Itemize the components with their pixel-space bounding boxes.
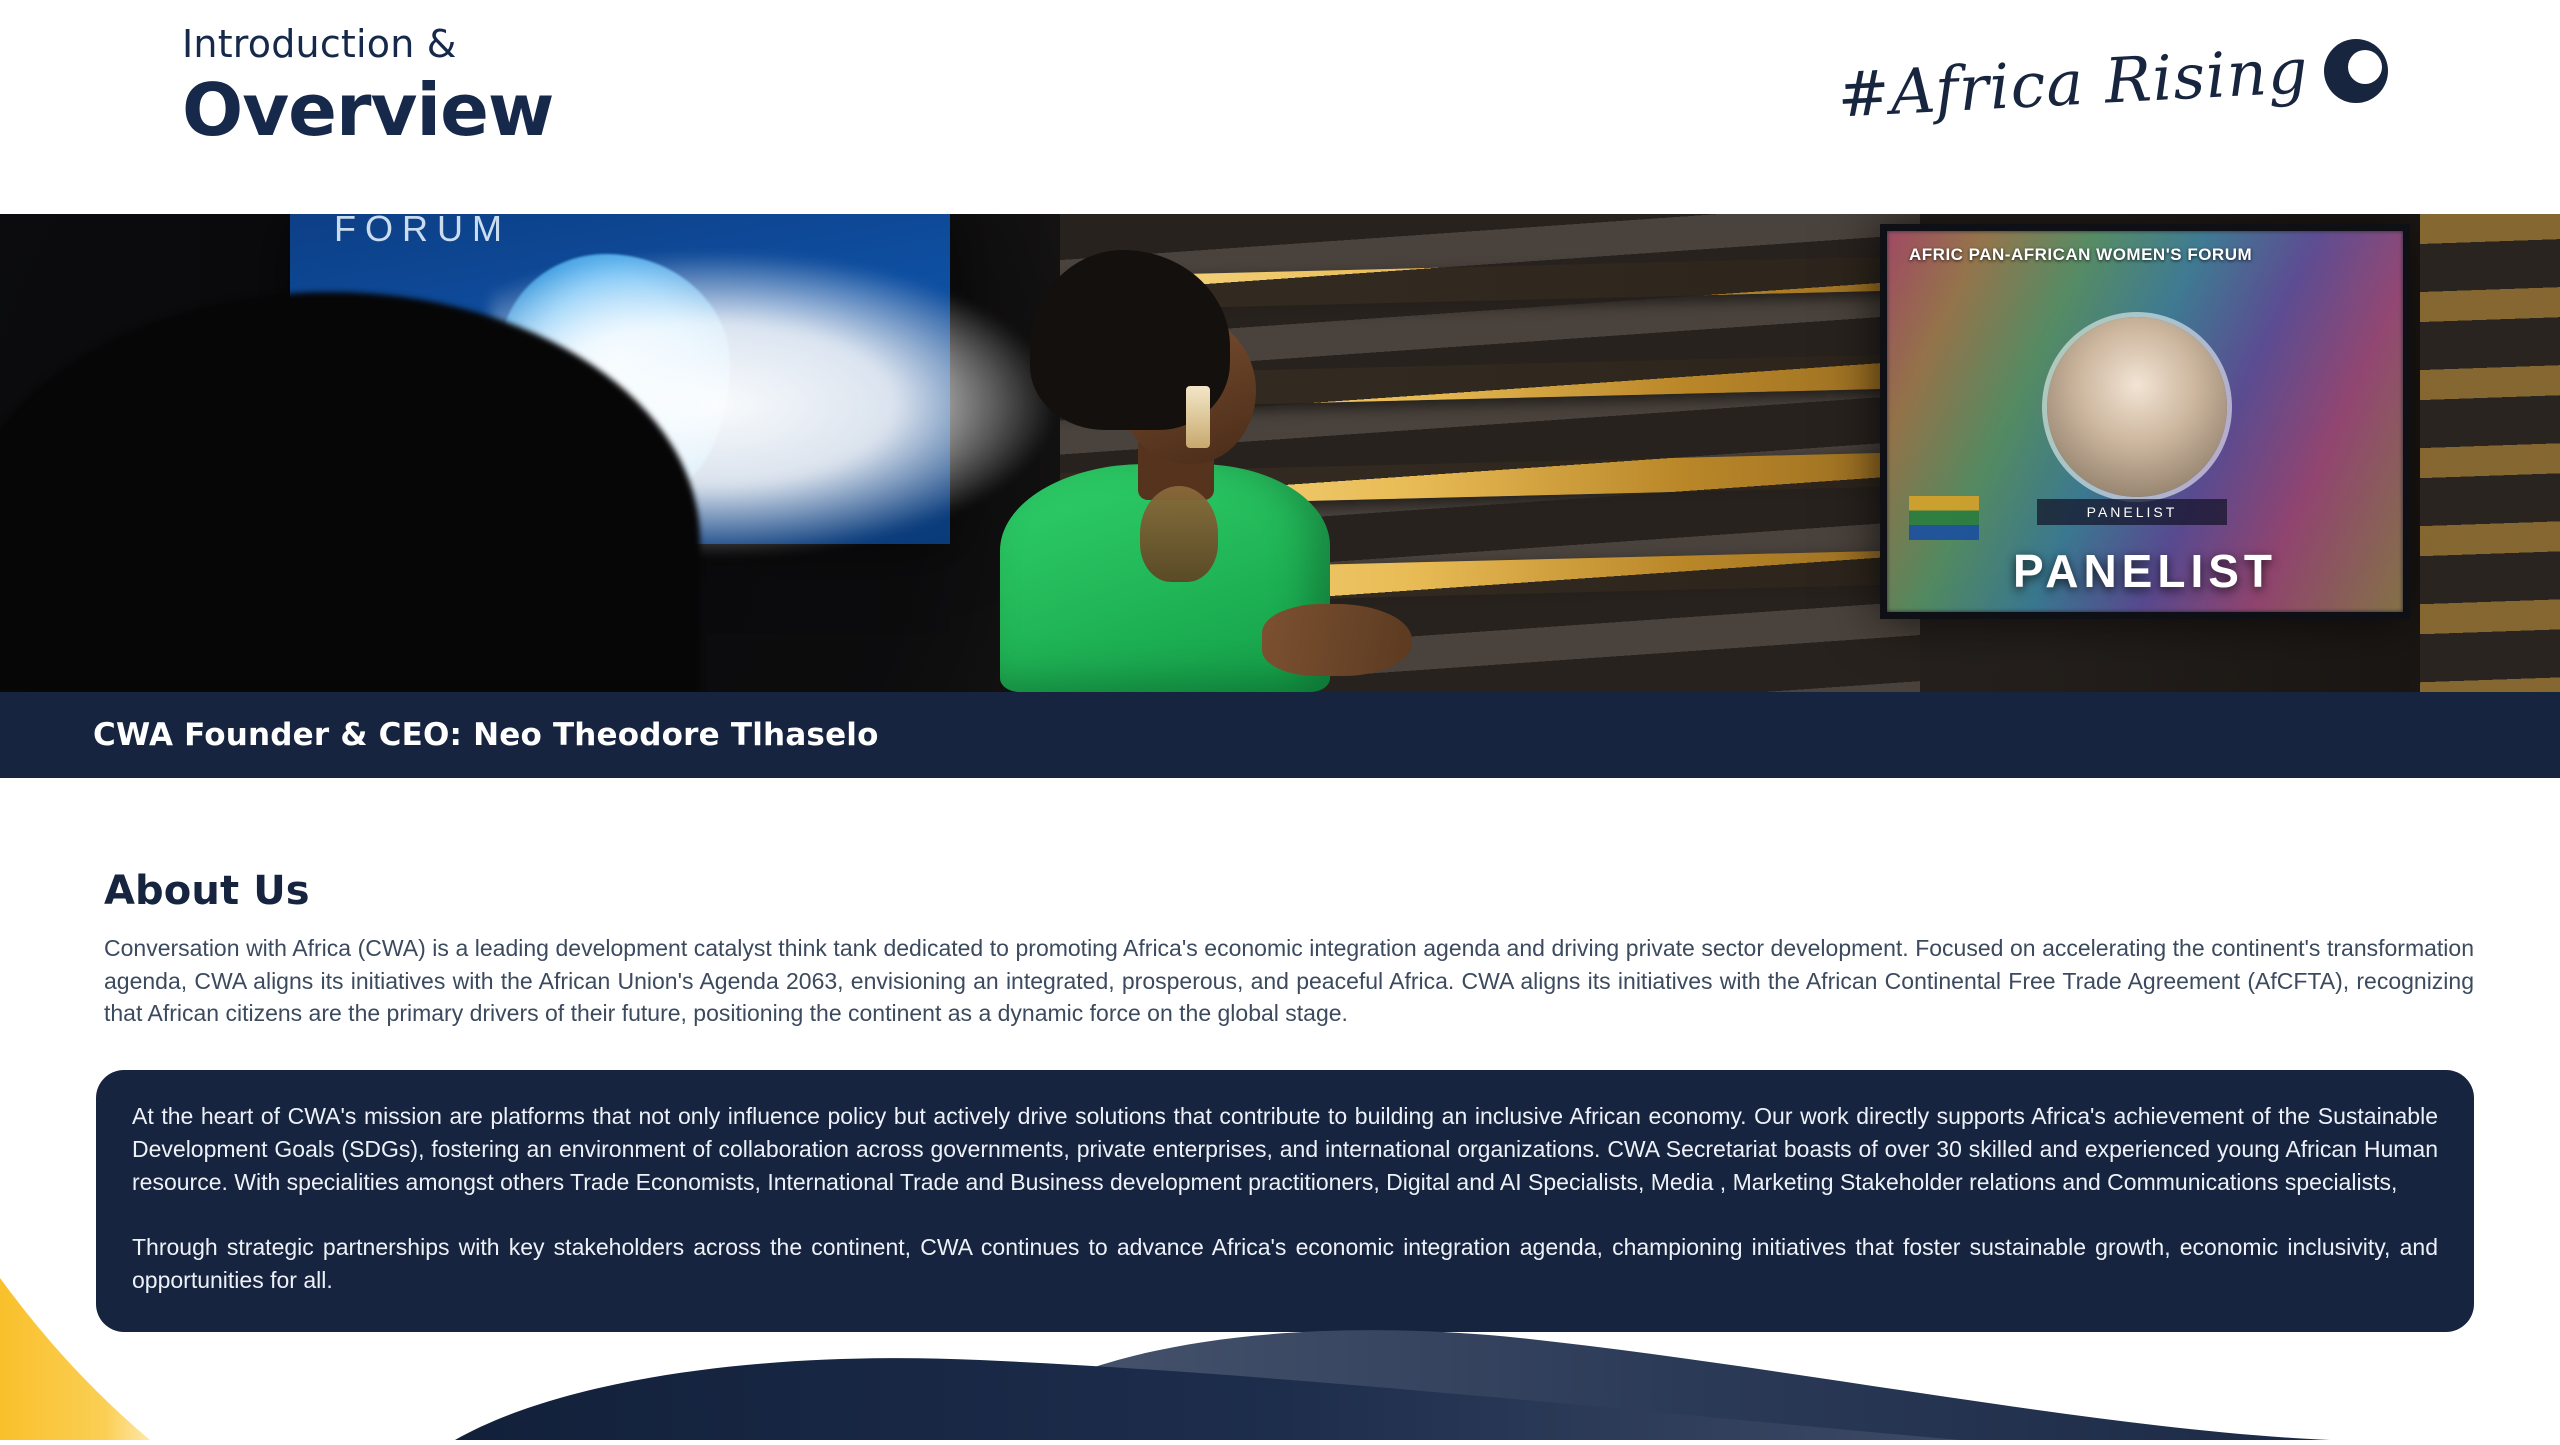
- right-poster-screen: AFRIC PAN-AFRICAN WOMEN'S FORUM PANELIST…: [1880, 224, 2410, 619]
- poster-heading: AFRIC PAN-AFRICAN WOMEN'S FORUM: [1909, 245, 2381, 303]
- brand-lockup: #Africa Rising: [1837, 34, 2388, 107]
- screen-forum-text: FORUM: [334, 214, 511, 250]
- page-eyebrow: Introduction &: [182, 20, 553, 69]
- page-title: Overview: [182, 73, 553, 149]
- wave-navy-thick: [455, 1358, 1960, 1440]
- page-title-block: Introduction & Overview: [182, 20, 553, 149]
- mission-paragraph-2: Through strategic partnerships with key …: [132, 1231, 2438, 1297]
- wave-navy-thin: [975, 1330, 2560, 1440]
- mission-paragraph-1: At the heart of CWA's mission are platfo…: [132, 1100, 2438, 1199]
- stage-truss: [2420, 214, 2560, 692]
- mission-callout-box: At the heart of CWA's mission are platfo…: [96, 1070, 2474, 1332]
- page-header: Introduction & Overview #Africa Rising: [0, 0, 2560, 214]
- brand-script-text: #Africa Rising: [1836, 34, 2310, 132]
- poster-panelist-label: PANELIST: [1887, 544, 2403, 598]
- about-body-text: Conversation with Africa (CWA) is a lead…: [104, 932, 2474, 1030]
- about-heading: About Us: [104, 868, 2560, 914]
- crescent-circle-logo-icon: [2324, 39, 2388, 103]
- poster-portrait: [2047, 317, 2227, 497]
- speaker-figure: [990, 250, 1410, 692]
- poster-panelist-tag: PANELIST: [2037, 499, 2227, 525]
- hero-caption-text: CWA Founder & CEO: Neo Theodore Tlhaselo: [93, 717, 879, 753]
- about-section: About Us Conversation with Africa (CWA) …: [0, 778, 2560, 1332]
- poster-flag-icon: [1909, 496, 1979, 540]
- hero-caption-bar: CWA Founder & CEO: Neo Theodore Tlhaselo: [0, 692, 2560, 778]
- hero-photo: FORUM AFRIC PAN-AFRICAN WOMEN'S FORUM PA…: [0, 214, 2560, 692]
